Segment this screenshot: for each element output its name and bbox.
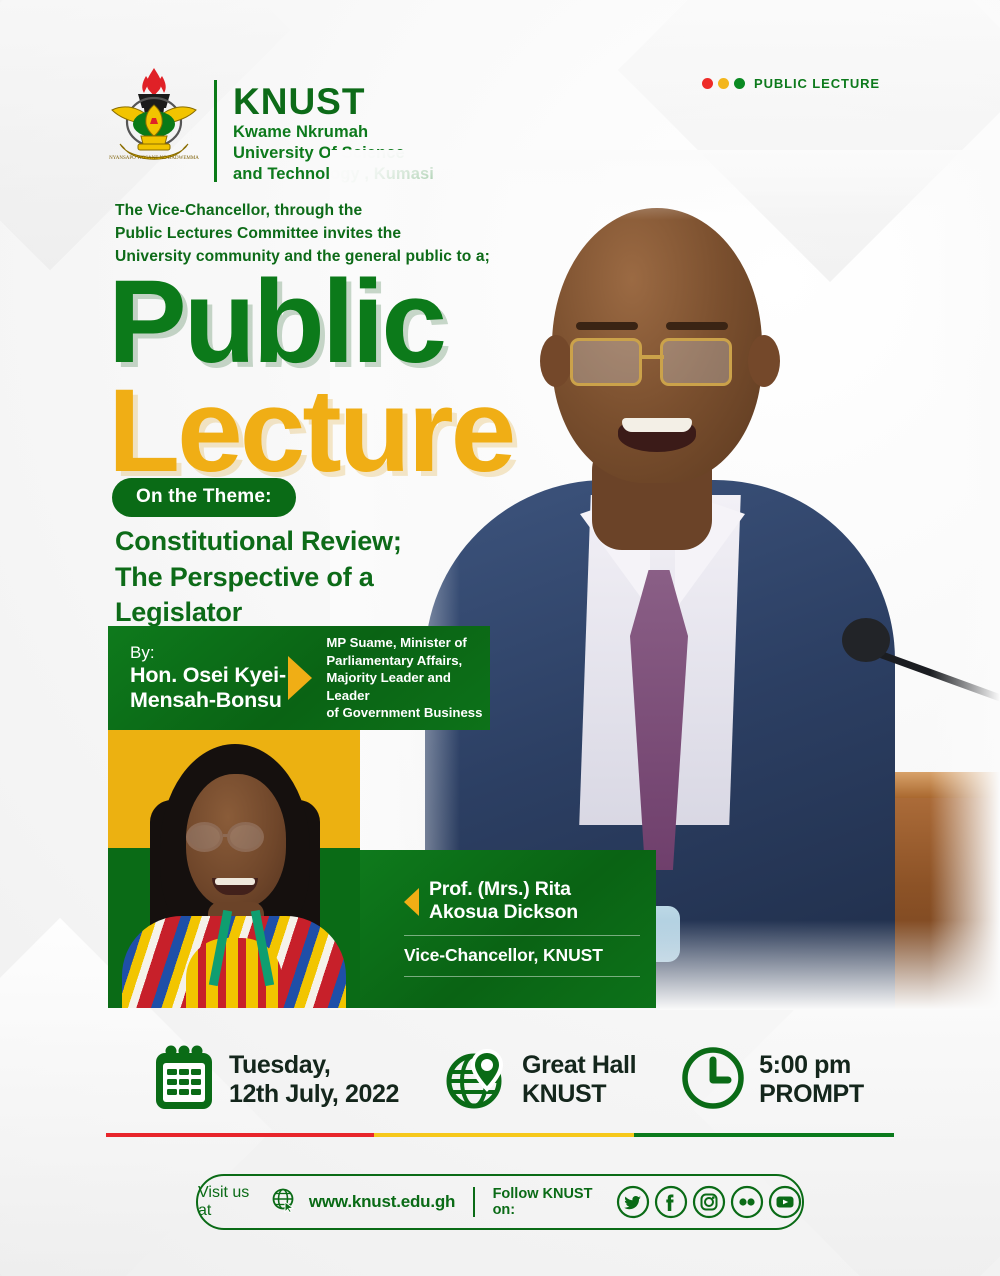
speaker-ear-left-shape (540, 335, 572, 387)
badge-dots (702, 78, 745, 89)
speaker-title-line4: of Government Business (326, 704, 490, 722)
website-link[interactable]: www.knust.edu.gh (309, 1192, 455, 1212)
footer-visit-label: Visit us at (198, 1184, 259, 1220)
speaker-name: Hon. Osei Kyei- Mensah-Bonsu (130, 663, 288, 713)
ghana-flag-divider (106, 1133, 894, 1137)
detail-venue-line1: Great Hall (522, 1051, 636, 1081)
youtube-icon[interactable] (768, 1185, 802, 1219)
instagram-icon[interactable] (692, 1185, 726, 1219)
speaker-title-line2: Parliamentary Affairs, (326, 652, 490, 670)
invitation-line2: Public Lectures Committee invites the (115, 223, 490, 246)
vc-name-row: Prof. (Mrs.) Rita Akosua Dickson (404, 878, 640, 925)
speaker-name-line2: Mensah-Bonsu (130, 688, 288, 713)
speaker-by-label: By: (130, 643, 288, 663)
speaker-brow-right-shape (666, 322, 728, 330)
badge-dot-red (702, 78, 713, 89)
detail-time-line1: 5:00 pm (759, 1051, 864, 1081)
detail-time-line2: PROMPT (759, 1080, 864, 1110)
page-title-line2: Lecture (108, 377, 513, 486)
speaker-brow-left-shape (576, 322, 638, 330)
speaker-name-block: By: Hon. Osei Kyei- Mensah-Bonsu (108, 643, 288, 713)
badge-dot-green (734, 78, 745, 89)
speaker-ear-right-shape (748, 335, 780, 387)
brand-divider (214, 80, 217, 182)
facebook-icon[interactable] (654, 1185, 688, 1219)
vc-name-line1: Prof. (Mrs.) Rita (429, 878, 578, 901)
badge-dot-yellow (718, 78, 729, 89)
speaker-title-line1: MP Suame, Minister of (326, 634, 490, 652)
status-badge: PUBLIC LECTURE (702, 76, 880, 91)
detail-venue-text: Great Hall KNUST (522, 1051, 636, 1110)
theme-pill-label: On the Theme: (112, 478, 296, 517)
footer-bar: Visit us at www.knust.edu.gh Follow KNUS… (196, 1174, 804, 1230)
detail-date-text: Tuesday, 12th July, 2022 (229, 1051, 399, 1110)
detail-venue: Great Hall KNUST (443, 1045, 636, 1116)
vice-chancellor-photo (108, 730, 360, 1008)
vc-name-line2: Akosua Dickson (429, 901, 578, 924)
twitter-icon[interactable] (616, 1185, 650, 1219)
knust-crest-icon: NYANSAPO WOSANE NO BADWEMMA (108, 64, 200, 172)
theme-text: Constitutional Review; The Perspective o… (115, 524, 402, 631)
stripe-green (634, 1133, 894, 1137)
vc-divider-bottom (404, 976, 640, 977)
speaker-glasses-bridge-shape (642, 355, 664, 359)
detail-date: Tuesday, 12th July, 2022 (152, 1045, 399, 1116)
detail-date-line1: Tuesday, (229, 1051, 399, 1081)
invitation-line1: The Vice-Chancellor, through the (115, 200, 490, 223)
flickr-icon[interactable] (730, 1185, 764, 1219)
footer-divider (473, 1187, 474, 1217)
globe-cursor-icon (271, 1187, 297, 1218)
arrow-right-icon (288, 656, 312, 700)
detail-venue-line2: KNUST (522, 1080, 636, 1110)
public-lecture-poster: NYANSAPO WOSANE NO BADWEMMA KNUST Kwame … (0, 0, 1000, 1276)
stripe-yellow (374, 1133, 634, 1137)
svg-text:NYANSAPO WOSANE NO BADWEMMA: NYANSAPO WOSANE NO BADWEMMA (109, 156, 199, 161)
page-title: Public Lecture (108, 268, 513, 485)
event-details-row: Tuesday, 12th July, 2022 Great Hall KNUS… (152, 1030, 892, 1130)
speaker-info-bar: By: Hon. Osei Kyei- Mensah-Bonsu MP Suam… (108, 626, 490, 730)
theme-line1: Constitutional Review; (115, 524, 402, 560)
vc-glasses-bridge-shape (223, 834, 229, 837)
theme-line2: The Perspective of a (115, 560, 402, 596)
vc-teeth-shape (215, 878, 255, 885)
detail-date-line2: 12th July, 2022 (229, 1080, 399, 1110)
vc-role: Vice-Chancellor, KNUST (404, 945, 640, 966)
speaker-title-line3: Majority Leader and Leader (326, 669, 490, 704)
globe-location-icon (443, 1045, 509, 1116)
speaker-glasses-left-shape (570, 338, 642, 386)
brand-name: KNUST (233, 84, 434, 120)
badge-label: PUBLIC LECTURE (754, 76, 880, 91)
page-title-line1: Public (108, 268, 513, 377)
vc-divider-top (404, 935, 640, 936)
clock-icon (680, 1045, 746, 1116)
speaker-teeth-shape (622, 418, 692, 432)
speaker-glasses-right-shape (660, 338, 732, 386)
vc-name: Prof. (Mrs.) Rita Akosua Dickson (429, 878, 578, 925)
social-links (616, 1185, 802, 1219)
speaker-title-block: MP Suame, Minister of Parliamentary Affa… (312, 634, 490, 722)
microphone-icon (842, 618, 890, 662)
vc-glasses-left-shape (186, 822, 223, 852)
arrow-left-icon (404, 888, 419, 916)
footer-follow-label: Follow KNUST on: (493, 1186, 604, 1218)
vice-chancellor-info: Prof. (Mrs.) Rita Akosua Dickson Vice-Ch… (404, 860, 640, 986)
detail-time: 5:00 pm PROMPT (680, 1045, 864, 1116)
detail-time-text: 5:00 pm PROMPT (759, 1051, 864, 1110)
calendar-icon (152, 1045, 216, 1116)
photo-fade-right (930, 150, 1000, 1010)
brand-fullname-line1: Kwame Nkrumah (233, 122, 434, 143)
vc-glasses-right-shape (227, 822, 264, 852)
speaker-name-line1: Hon. Osei Kyei- (130, 663, 288, 688)
stripe-red (106, 1133, 374, 1137)
